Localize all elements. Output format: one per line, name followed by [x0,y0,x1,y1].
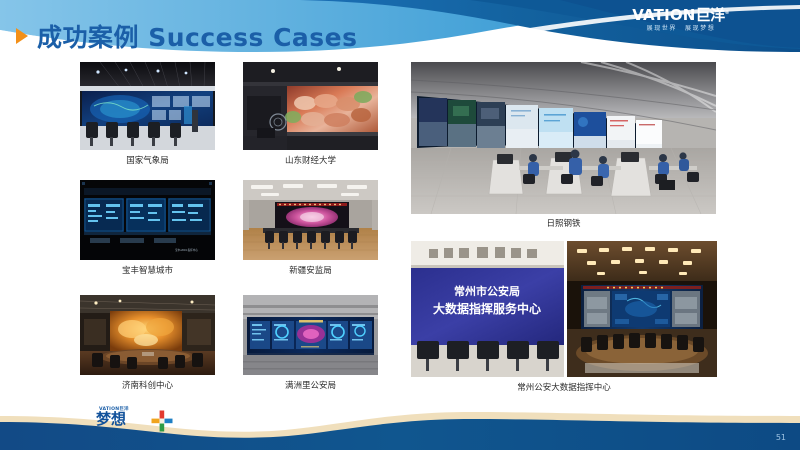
photo-baofeng-city: 宝丰•2019 指挥中心 [80,180,215,260]
photo-changzhou-auditorium [567,241,717,377]
caption-changzhou-gongan: 常州公安大数据指挥中心 [517,381,611,393]
svg-text:常州市公安局: 常州市公安局 [454,284,520,298]
caption-rizhao-gangtie: 日照钢铁 [546,217,580,229]
gallery-item-rizhao-gangtie[interactable]: 日照钢铁 [411,62,716,214]
gallery-item-jinan-kechuang[interactable]: 济南科创中心 [80,295,215,375]
photo-changzhou-signage: 常州市公安局 大数据指挥服务中心 [411,241,564,377]
photo-rizhao-gangtie [411,62,716,214]
photo-jinan-kechuang [80,295,215,375]
photo-shandong-caijing [243,62,378,150]
caption-manzhouli-gonganju: 满洲里公安局 [285,379,336,391]
caption-xinjiang-anjianju: 新疆安监局 [289,264,332,276]
caption-baofeng-city: 宝丰智慧城市 [122,264,173,276]
photo-guojia-qixiangju [80,62,215,150]
caption-shandong-caijing: 山东财经大学 [285,154,336,166]
gallery-item-xinjiang-anjianju[interactable]: 新疆安监局 [243,180,378,260]
gallery-item-shandong-caijing[interactable]: 山东财经大学 [243,62,378,150]
photo-xinjiang-anjianju [243,180,378,260]
gallery-item-guojia-qixiangju[interactable]: 国家气象局 [80,62,215,150]
gallery-item-changzhou-signage[interactable]: 常州市公安局 大数据指挥服务中心 [411,241,564,377]
svg-text:大数据指挥服务中心: 大数据指挥服务中心 [433,301,541,316]
slide-root: VATION巨洋® 展现世界展现梦想 成功案例 Success Cases [0,0,800,450]
gallery-item-manzhouli-gonganju[interactable]: 满洲里公安局 [243,295,378,375]
caption-guojia-qixiangju: 国家气象局 [126,154,169,166]
caption-jinan-kechuang: 济南科创中心 [122,379,173,391]
gallery-item-baofeng-city[interactable]: 宝丰•2019 指挥中心 宝丰智慧城市 [80,180,215,260]
case-gallery: 国家气象局 [0,0,800,450]
svg-text:宝丰•2019 指挥中心: 宝丰•2019 指挥中心 [175,248,198,252]
gallery-item-changzhou-auditorium[interactable] [567,241,717,377]
photo-manzhouli-gonganju [243,295,378,375]
